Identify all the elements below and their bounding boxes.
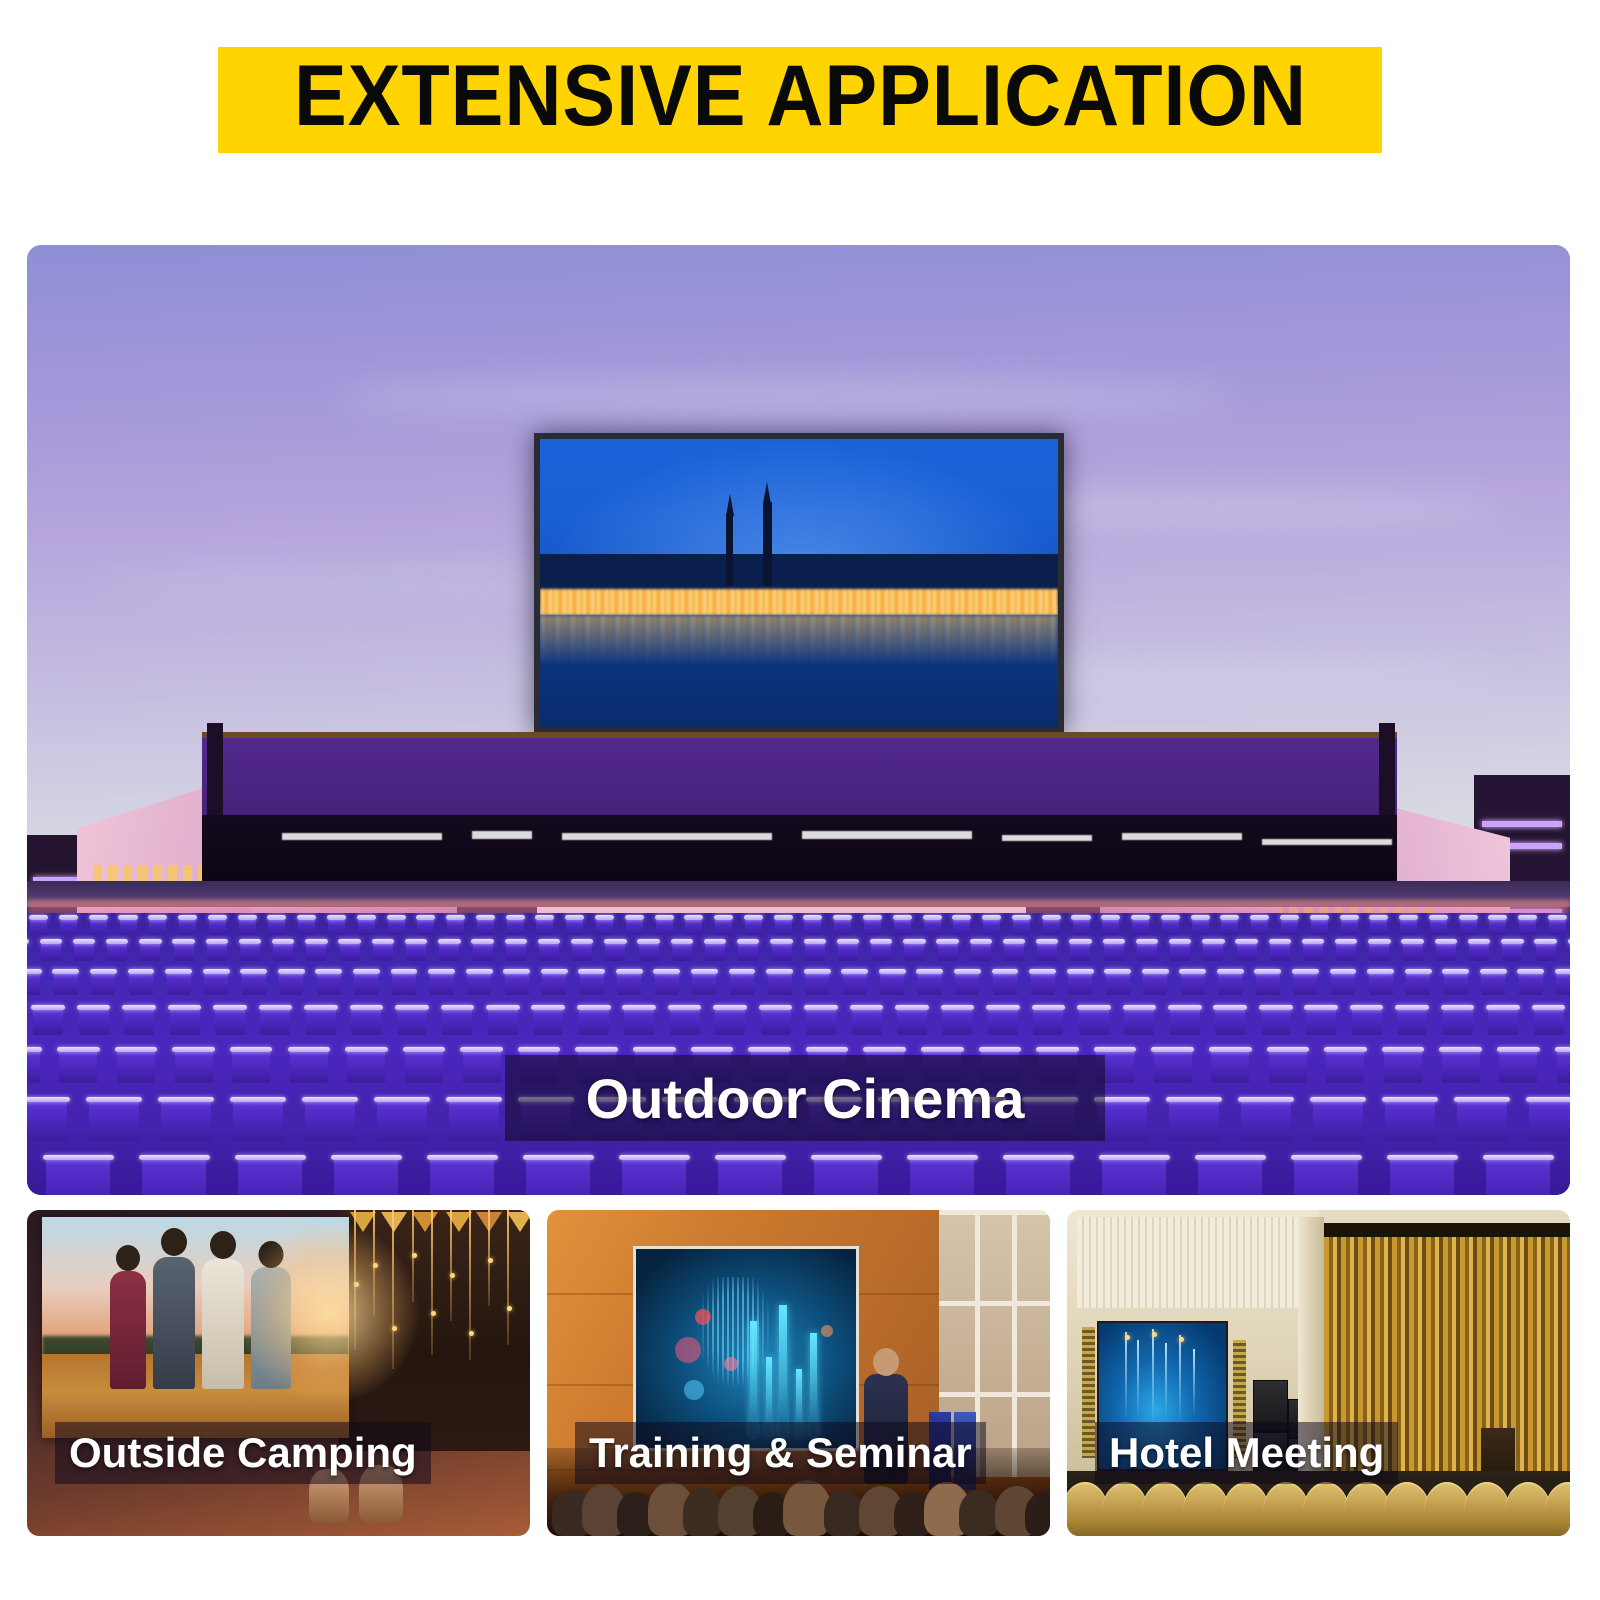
application-thumbnail-row: Outside Camping <box>27 1210 1570 1536</box>
stage-light <box>562 833 772 840</box>
head-icon <box>873 1348 899 1376</box>
audience-head <box>959 1490 999 1536</box>
friend-figure <box>202 1259 244 1389</box>
hero-caption: Outdoor Cinema <box>505 1055 1105 1141</box>
fiber-optic-strand <box>1165 1343 1167 1416</box>
stage-light <box>282 833 442 840</box>
stage-light <box>1262 839 1392 845</box>
data-dot <box>724 1357 738 1371</box>
data-map-graphic <box>697 1277 772 1389</box>
gold-chair <box>1223 1482 1269 1536</box>
light-bulb <box>450 1273 455 1278</box>
hero-caption-label: Outdoor Cinema <box>586 1066 1025 1131</box>
thumbnail-caption-hotel: Hotel Meeting <box>1095 1422 1398 1484</box>
seminar-projection-screen <box>633 1246 859 1451</box>
thumbnail-caption-label: Outside Camping <box>69 1429 417 1477</box>
head-icon <box>161 1228 187 1256</box>
thumbnail-outside-camping: Outside Camping <box>27 1210 530 1536</box>
gold-chair <box>1384 1482 1430 1536</box>
light-string <box>450 1210 452 1321</box>
gold-chair <box>1344 1482 1390 1536</box>
screen-content-cityscape <box>540 439 1058 727</box>
thumbnail-hotel-meeting: Hotel Meeting <box>1067 1210 1570 1536</box>
seat-row <box>27 943 1570 961</box>
audience-seating-area <box>27 913 1570 1195</box>
window-mullion <box>939 1210 1050 1215</box>
light-string <box>469 1210 471 1360</box>
sun-flare <box>239 1223 419 1403</box>
gold-chair <box>1303 1482 1349 1536</box>
screen-water-reflection <box>540 615 1058 667</box>
data-bar <box>779 1305 787 1437</box>
window-mullion <box>939 1392 1050 1397</box>
data-dot <box>821 1325 833 1337</box>
fiber-light-point <box>1152 1332 1157 1337</box>
neon-bar <box>1482 821 1562 827</box>
hero-image-outdoor-cinema: Outdoor Cinema <box>27 245 1570 1195</box>
light-string <box>507 1210 509 1345</box>
data-dot <box>675 1337 701 1363</box>
fiber-optic-strand <box>1137 1340 1139 1416</box>
stage-light <box>1002 835 1092 841</box>
light-bulb <box>469 1331 474 1336</box>
thumbnail-training-seminar: Training & Seminar <box>547 1210 1050 1536</box>
gold-chair <box>1102 1482 1148 1536</box>
beadboard-panel <box>1077 1217 1298 1308</box>
light-string <box>431 1210 433 1355</box>
fiber-light-point <box>1179 1337 1184 1342</box>
title-banner: EXTENSIVE APPLICATION <box>218 47 1383 153</box>
screen-water <box>540 615 1058 727</box>
gold-chair <box>1464 1482 1510 1536</box>
fiber-optic-strand <box>1152 1329 1154 1425</box>
window-mullion <box>1012 1210 1017 1477</box>
seat-row <box>27 973 1570 995</box>
data-bar <box>750 1321 757 1437</box>
friend-figure <box>153 1257 195 1389</box>
stage-top-rail <box>202 732 1397 738</box>
fiber-optic-strand <box>1193 1349 1195 1416</box>
audience-head <box>683 1488 723 1536</box>
gold-chair <box>1142 1482 1188 1536</box>
stage-equipment-row <box>202 815 1397 883</box>
head-icon <box>116 1245 140 1271</box>
gold-chair <box>1263 1482 1309 1536</box>
fiber-optic-strand <box>1125 1332 1127 1420</box>
church-spire-icon <box>726 514 733 586</box>
church-spire-icon <box>763 502 772 586</box>
bunting-flag <box>412 1212 438 1232</box>
wall-grille <box>1082 1327 1095 1457</box>
seat-row <box>27 1159 1570 1195</box>
gold-chair <box>1505 1482 1551 1536</box>
stage-light <box>802 831 972 839</box>
title-banner-container: EXTENSIVE APPLICATION <box>0 0 1600 200</box>
fiber-light-point <box>1125 1335 1130 1340</box>
projection-screen <box>534 433 1064 733</box>
audience-head <box>824 1490 864 1536</box>
stage-light <box>1122 833 1242 840</box>
window-mullion <box>939 1301 1050 1306</box>
head-icon <box>210 1231 236 1259</box>
gold-chair <box>1424 1482 1470 1536</box>
light-bulb <box>431 1311 436 1316</box>
friend-figure <box>110 1271 146 1389</box>
gold-chair <box>1183 1482 1229 1536</box>
fiber-optic-strand <box>1179 1335 1181 1423</box>
thumbnail-caption-label: Training & Seminar <box>589 1429 972 1477</box>
stage-light <box>472 831 532 839</box>
thumbnail-caption-seminar: Training & Seminar <box>575 1422 986 1484</box>
gold-chair <box>1545 1482 1570 1536</box>
data-bar <box>810 1333 817 1437</box>
thumbnail-caption-label: Hotel Meeting <box>1109 1429 1384 1477</box>
data-dot <box>684 1380 704 1400</box>
light-bulb <box>507 1306 512 1311</box>
screen-city-lights <box>540 589 1058 615</box>
seat-row <box>27 1009 1570 1035</box>
thumbnail-caption-camping: Outside Camping <box>55 1422 431 1484</box>
cloud-band <box>336 378 1231 418</box>
seat-row <box>27 919 1570 935</box>
bunting-flag <box>507 1212 530 1232</box>
data-dot <box>695 1309 711 1325</box>
light-bulb <box>488 1258 493 1263</box>
page-title: EXTENSIVE APPLICATION <box>294 53 1307 139</box>
